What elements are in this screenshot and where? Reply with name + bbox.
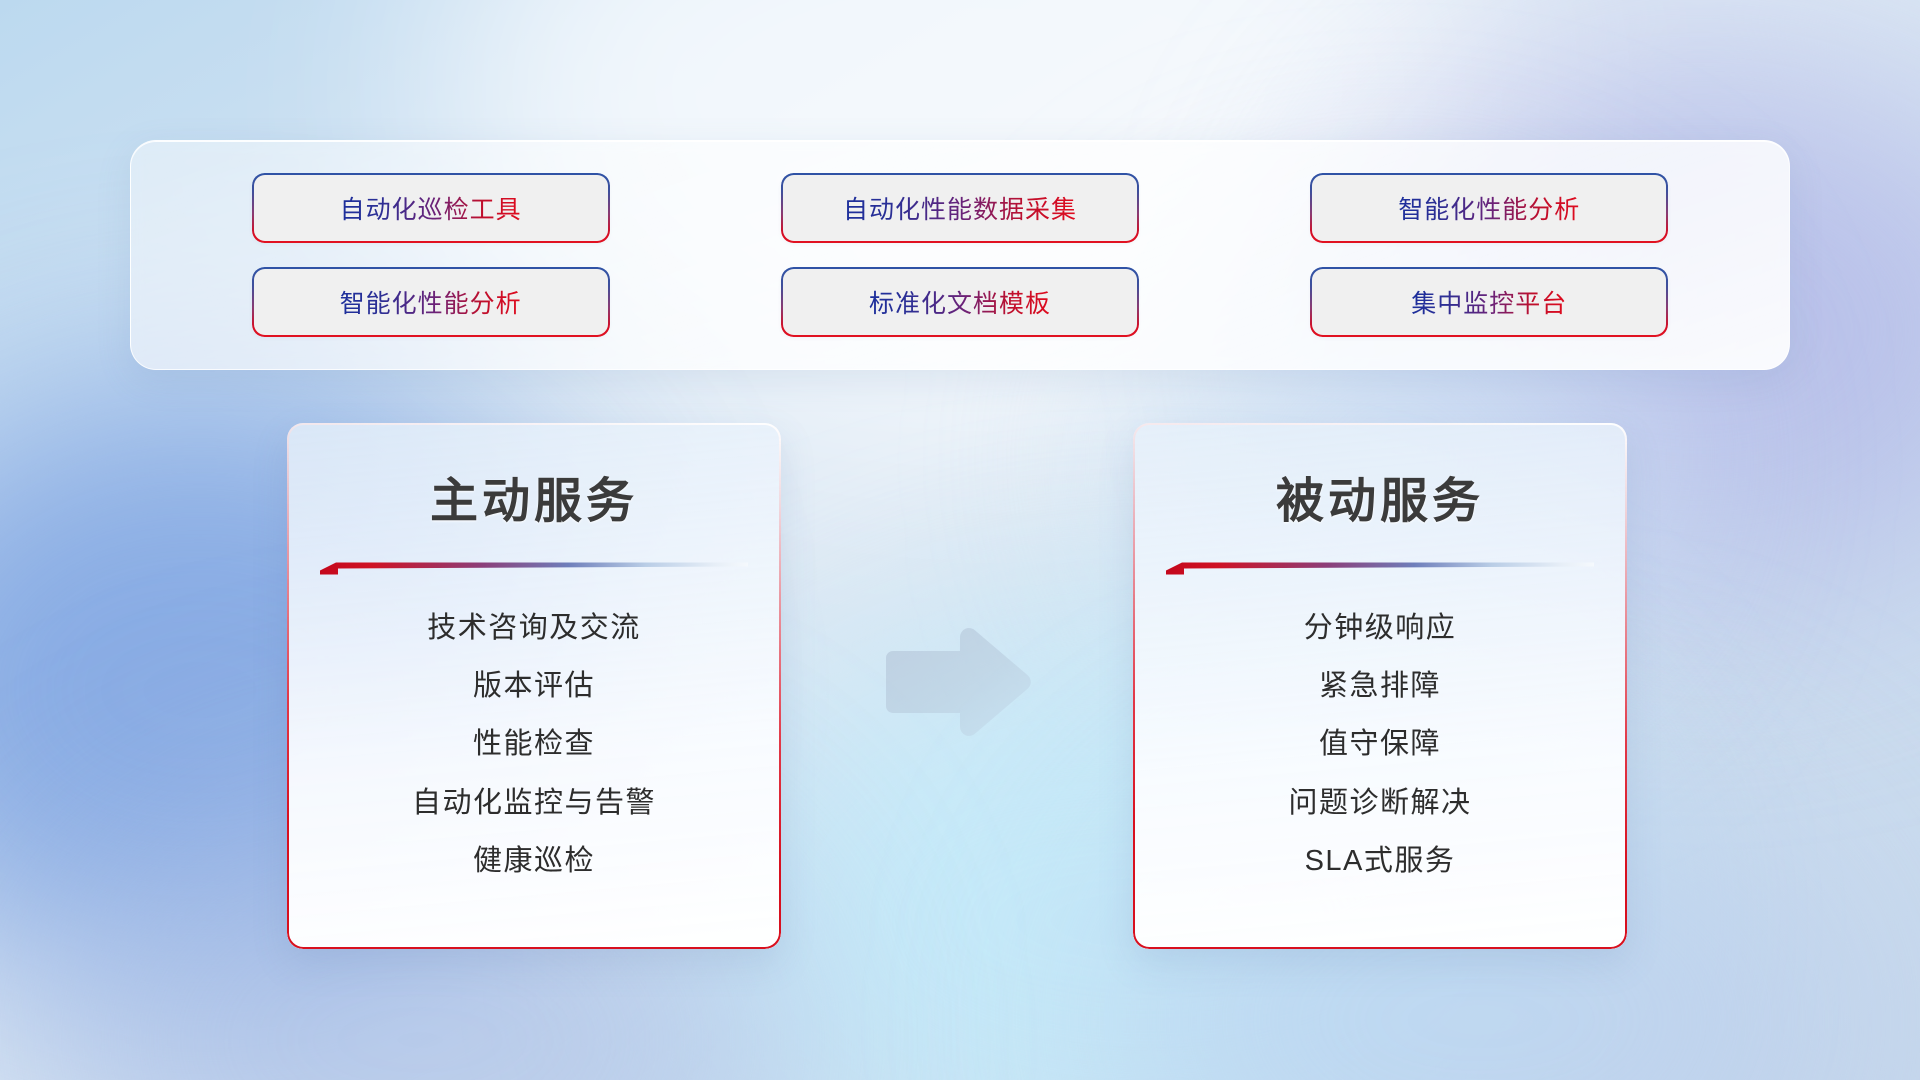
capability-pill-2[interactable]: 自动化性能数据采集	[782, 175, 1137, 241]
card-list-item: 自动化监控与告警	[311, 786, 757, 820]
capability-pill-3[interactable]: 智能化性能分析	[1312, 175, 1667, 241]
capability-pill-1[interactable]: 自动化巡检工具	[253, 175, 608, 241]
capability-pill-5[interactable]: 标准化文档模板	[782, 269, 1137, 335]
card-list-item: 紧急排障	[1157, 669, 1603, 703]
card-list-item: 分钟级响应	[1157, 611, 1603, 645]
capability-pill-label: 集中监控平台	[1411, 284, 1567, 320]
arrow-right-icon	[878, 624, 1038, 740]
capability-pill-4[interactable]: 智能化性能分析	[253, 269, 608, 335]
capability-pill-6[interactable]: 集中监控平台	[1312, 269, 1667, 335]
diagram-stage: 自动化巡检工具 自动化性能数据采集 智能化性能分析 智能化性能分析 标准化文档模…	[0, 0, 1920, 1080]
capability-pill-label: 标准化文档模板	[869, 284, 1051, 320]
service-card-passive: 被动服务 分钟级响应 紧急排障	[1133, 423, 1627, 949]
capability-pill-label: 自动化巡检工具	[340, 190, 522, 226]
card-list-item: 健康巡检	[311, 844, 757, 878]
card-list-item: 性能检查	[311, 727, 757, 761]
card-divider	[320, 559, 748, 575]
card-divider	[1166, 559, 1594, 575]
capability-pill-label: 自动化性能数据采集	[843, 190, 1077, 226]
card-item-list: 分钟级响应 紧急排障 值守保障 问题诊断解决 SLA式服务	[1133, 611, 1627, 878]
card-list-item: 版本评估	[311, 669, 757, 703]
capability-pill-label: 智能化性能分析	[340, 284, 522, 320]
service-card-active: 主动服务 技术咨询及交流 版本评估	[287, 423, 781, 949]
capability-panel: 自动化巡检工具 自动化性能数据采集 智能化性能分析 智能化性能分析 标准化文档模…	[130, 140, 1790, 370]
card-list-item: 技术咨询及交流	[311, 611, 757, 645]
card-list-item: 问题诊断解决	[1157, 786, 1603, 820]
card-title: 主动服务	[287, 461, 781, 531]
card-item-list: 技术咨询及交流 版本评估 性能检查 自动化监控与告警 健康巡检	[287, 611, 781, 878]
capability-pill-label: 智能化性能分析	[1398, 190, 1580, 226]
card-list-item: 值守保障	[1157, 727, 1603, 761]
card-list-item: SLA式服务	[1157, 844, 1603, 878]
card-title: 被动服务	[1133, 461, 1627, 531]
